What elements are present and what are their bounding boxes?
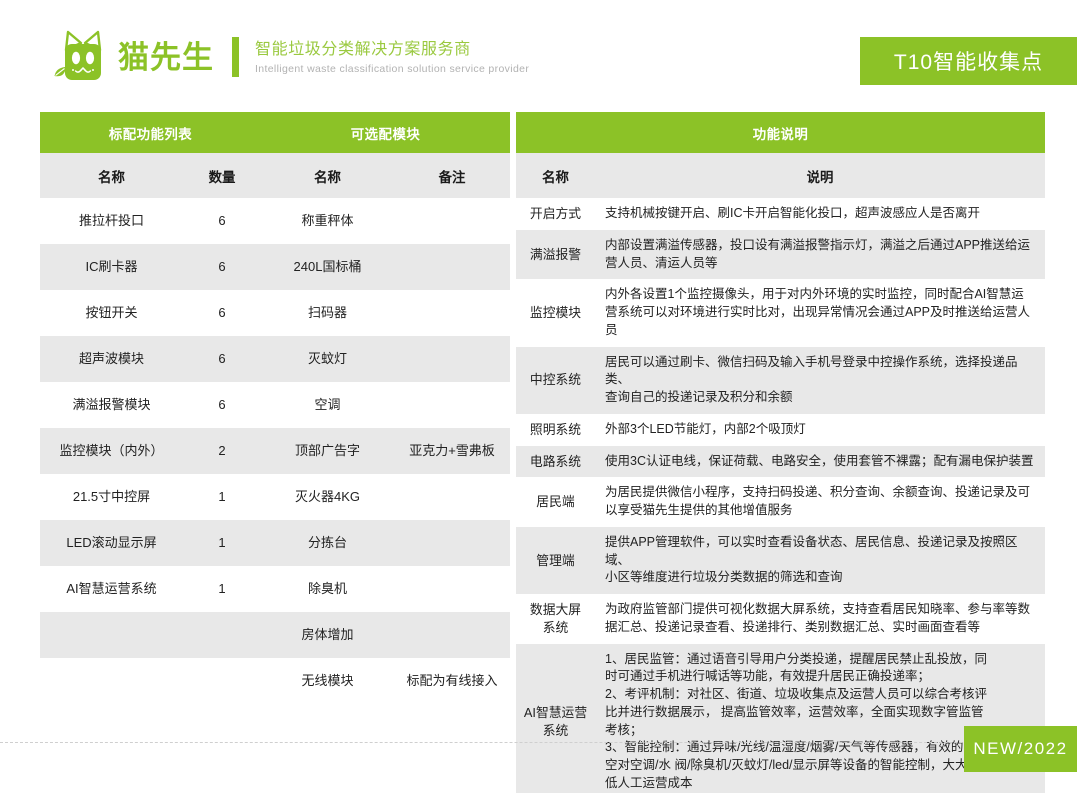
left-cell-option: 顶部广告字 (261, 428, 394, 474)
description-line: 比并进行数据展示， 提高监管效率，运营效率，全面实现数字管监管 (605, 704, 1039, 722)
left-cell-note (394, 244, 510, 290)
left-cell-note (394, 382, 510, 428)
description-line: 查询自己的投递记录及积分和余额 (605, 389, 1039, 407)
table-row: 推拉杆投口6称重秤体 (40, 198, 510, 244)
description-line: 支持机械按键开启、刷IC卡开启智能化投口，超声波感应人是否离开 (605, 205, 1039, 223)
table-row: 电路系统使用3C认证电线，保证荷载、电路安全，使用套管不裸露；配有漏电保护装置 (516, 446, 1045, 478)
slide-page: 猫先生 智能垃圾分类解决方案服务商 Intelligent waste clas… (0, 0, 1077, 793)
description-line: 外部3个LED节能灯，内部2个吸顶灯 (605, 421, 1039, 439)
left-cell-name: 按钮开关 (40, 290, 183, 336)
brand-name: 猫先生 (118, 42, 214, 73)
left-cell-qty: 6 (183, 290, 261, 336)
right-cell-description: 提供APP管理软件，可以实时查看设备状态、居民信息、投递记录及按照区域、小区等维… (595, 527, 1045, 594)
table-row: LED滚动显示屏1分拣台 (40, 520, 510, 566)
table-row: 满溢报警模块6空调 (40, 382, 510, 428)
right-cell-description: 为政府监管部门提供可视化数据大屏系统，支持查看居民知晓率、参与率等数据汇总、投递… (595, 594, 1045, 644)
description-line: 据汇总、投递记录查看、投递排行、类别数据汇总、实时画面查看等 (605, 619, 1039, 637)
table-row: 按钮开关6扫码器 (40, 290, 510, 336)
slogan-wrap: 智能垃圾分类解决方案服务商 Intelligent waste classifi… (255, 40, 529, 75)
left-cell-option: 灭火器4KG (261, 474, 394, 520)
table-row: 管理端提供APP管理软件，可以实时查看设备状态、居民信息、投递记录及按照区域、小… (516, 527, 1045, 594)
footer-dashed-rule (0, 742, 1077, 743)
standard-and-optional-table: 标配功能列表 可选配模块 名称 数量 名称 备注 推拉杆投口6称重秤体IC刷卡器… (40, 112, 510, 704)
right-cell-description: 居民可以通过刷卡、微信扫码及输入手机号登录中控操作系统，选择投递品类、查询自己的… (595, 347, 1045, 414)
left-cell-qty: 6 (183, 244, 261, 290)
right-cell-description: 内外各设置1个监控摄像头，用于对内外环境的实时监控，同时配合AI智慧运营系统可以… (595, 279, 1045, 346)
cat-face-leaf-logo-icon (52, 29, 114, 85)
left-cell-note (394, 336, 510, 382)
right-table-header-row: 名称 说明 (516, 153, 1045, 198)
description-line: 2、考评机制：对社区、街道、垃圾收集点及运营人员可以综合考核评 (605, 686, 1039, 704)
left-cell-note (394, 612, 510, 658)
left-cell-qty: 2 (183, 428, 261, 474)
table-row: 监控模块内外各设置1个监控摄像头，用于对内外环境的实时监控，同时配合AI智慧运营… (516, 279, 1045, 346)
slogan-english: Intelligent waste classification solutio… (255, 63, 529, 75)
left-cell-qty: 1 (183, 520, 261, 566)
left-cell-option: 灭蚊灯 (261, 336, 394, 382)
right-cell-name: 满溢报警 (516, 230, 595, 280)
left-cell-name (40, 658, 183, 704)
description-line: 内外各设置1个监控摄像头，用于对内外环境的实时监控，同时配合AI智慧运 (605, 286, 1039, 304)
right-cell-name: 管理端 (516, 527, 595, 594)
table-row: 房体增加 (40, 612, 510, 658)
left-cell-name: 监控模块（内外） (40, 428, 183, 474)
footer-new-badge: NEW/2022 (964, 726, 1077, 772)
right-cell-description: 外部3个LED节能灯，内部2个吸顶灯 (595, 414, 1045, 446)
left-header-qty: 数量 (183, 153, 261, 198)
table-row: 21.5寸中控屏1灭火器4KG (40, 474, 510, 520)
left-cell-qty (183, 658, 261, 704)
description-line: 营系统可以对环境进行实时比对，出现异常情况会通过APP及时推送给运营人 (605, 304, 1039, 322)
right-cell-description: 支持机械按键开启、刷IC卡开启智能化投口，超声波感应人是否离开 (595, 198, 1045, 230)
left-cell-option: 空调 (261, 382, 394, 428)
left-cell-option: 除臭机 (261, 566, 394, 612)
table-row: 满溢报警内部设置满溢传感器，投口设有满溢报警指示灯，满溢之后通过APP推送给运营… (516, 230, 1045, 280)
brand-divider (232, 37, 239, 77)
left-cell-name: 超声波模块 (40, 336, 183, 382)
left-cell-qty: 1 (183, 474, 261, 520)
description-line: 居民可以通过刷卡、微信扫码及输入手机号登录中控操作系统，选择投递品类、 (605, 354, 1039, 390)
right-table-title-row: 功能说明 (516, 112, 1045, 153)
left-cell-note (394, 198, 510, 244)
left-cell-option: 扫码器 (261, 290, 394, 336)
right-cell-name: 开启方式 (516, 198, 595, 230)
left-header-option-name: 名称 (261, 153, 394, 198)
right-table-title: 功能说明 (516, 112, 1045, 153)
right-cell-name: AI智慧运营系统 (516, 644, 595, 793)
right-cell-name: 监控模块 (516, 279, 595, 346)
right-cell-description: 使用3C认证电线，保证荷载、电路安全，使用套管不裸露；配有漏电保护装置 (595, 446, 1045, 478)
left-cell-qty: 6 (183, 336, 261, 382)
table-row: 居民端为居民提供微信小程序，支持扫码投递、积分查询、余额查询、投递记录及可以享受… (516, 477, 1045, 527)
model-badge: T10智能收集点 (860, 37, 1077, 85)
table-row: AI智慧运营系统1除臭机 (40, 566, 510, 612)
table-row: 开启方式支持机械按键开启、刷IC卡开启智能化投口，超声波感应人是否离开 (516, 198, 1045, 230)
right-table-body: 开启方式支持机械按键开启、刷IC卡开启智能化投口，超声波感应人是否离开满溢报警内… (516, 198, 1045, 793)
left-cell-option: 称重秤体 (261, 198, 394, 244)
left-cell-qty: 6 (183, 382, 261, 428)
right-cell-name: 居民端 (516, 477, 595, 527)
slogan-chinese: 智能垃圾分类解决方案服务商 (255, 40, 529, 60)
left-table-title-optional: 可选配模块 (261, 112, 510, 153)
left-table-header-row: 名称 数量 名称 备注 (40, 153, 510, 198)
table-row: 无线模块标配为有线接入 (40, 658, 510, 704)
description-line: 员 (605, 322, 1039, 340)
left-cell-qty: 6 (183, 198, 261, 244)
left-cell-note (394, 474, 510, 520)
table-row: IC刷卡器6240L国标桶 (40, 244, 510, 290)
left-cell-option: 240L国标桶 (261, 244, 394, 290)
description-line: 为居民提供微信小程序，支持扫码投递、积分查询、余额查询、投递记录及可 (605, 484, 1039, 502)
left-cell-note (394, 520, 510, 566)
left-cell-note: 亚克力+雪弗板 (394, 428, 510, 474)
left-cell-name: 满溢报警模块 (40, 382, 183, 428)
table-row: 数据大屏系统为政府监管部门提供可视化数据大屏系统，支持查看居民知晓率、参与率等数… (516, 594, 1045, 644)
description-line: 为政府监管部门提供可视化数据大屏系统，支持查看居民知晓率、参与率等数 (605, 601, 1039, 619)
function-description-table: 功能说明 名称 说明 开启方式支持机械按键开启、刷IC卡开启智能化投口，超声波感… (516, 112, 1045, 793)
right-cell-name: 电路系统 (516, 446, 595, 478)
left-cell-option: 房体增加 (261, 612, 394, 658)
right-header-name: 名称 (516, 153, 595, 198)
left-cell-name: LED滚动显示屏 (40, 520, 183, 566)
left-cell-name: 21.5寸中控屏 (40, 474, 183, 520)
page-header: 猫先生 智能垃圾分类解决方案服务商 Intelligent waste clas… (0, 0, 1077, 108)
brand-block: 猫先生 智能垃圾分类解决方案服务商 Intelligent waste clas… (52, 28, 529, 86)
description-line: 提供APP管理软件，可以实时查看设备状态、居民信息、投递记录及按照区域、 (605, 534, 1039, 570)
left-cell-qty (183, 612, 261, 658)
right-cell-description: 为居民提供微信小程序，支持扫码投递、积分查询、余额查询、投递记录及可以享受猫先生… (595, 477, 1045, 527)
right-cell-description: 内部设置满溢传感器，投口设有满溢报警指示灯，满溢之后通过APP推送给运营人员、清… (595, 230, 1045, 280)
left-cell-name: 推拉杆投口 (40, 198, 183, 244)
left-header-note: 备注 (394, 153, 510, 198)
left-cell-note: 标配为有线接入 (394, 658, 510, 704)
table-row: 超声波模块6灭蚊灯 (40, 336, 510, 382)
left-cell-qty: 1 (183, 566, 261, 612)
left-cell-note (394, 290, 510, 336)
description-line: 低人工运营成本 (605, 775, 1039, 793)
left-cell-name (40, 612, 183, 658)
left-cell-option: 无线模块 (261, 658, 394, 704)
description-line: 1、居民监管：通过语音引导用户分类投递，提醒居民禁止乱投放，同 (605, 651, 1039, 669)
table-row: 照明系统外部3个LED节能灯，内部2个吸顶灯 (516, 414, 1045, 446)
left-cell-note (394, 566, 510, 612)
left-table-title-standard: 标配功能列表 (40, 112, 261, 153)
left-cell-name: AI智慧运营系统 (40, 566, 183, 612)
description-line: 内部设置满溢传感器，投口设有满溢报警指示灯，满溢之后通过APP推送给运 (605, 237, 1039, 255)
right-header-desc: 说明 (595, 153, 1045, 198)
description-line: 使用3C认证电线，保证荷载、电路安全，使用套管不裸露；配有漏电保护装置 (605, 453, 1039, 471)
left-cell-option: 分拣台 (261, 520, 394, 566)
right-cell-name: 中控系统 (516, 347, 595, 414)
table-row: 监控模块（内外）2顶部广告字亚克力+雪弗板 (40, 428, 510, 474)
left-table-title-row: 标配功能列表 可选配模块 (40, 112, 510, 153)
description-line: 小区等维度进行垃圾分类数据的筛选和查询 (605, 569, 1039, 587)
right-cell-name: 数据大屏系统 (516, 594, 595, 644)
right-cell-name: 照明系统 (516, 414, 595, 446)
left-header-name: 名称 (40, 153, 183, 198)
description-line: 时可通过手机进行喊话等功能，有效提升居民正确投递率； (605, 668, 1039, 686)
left-cell-name: IC刷卡器 (40, 244, 183, 290)
description-line: 营人员、清运人员等 (605, 255, 1039, 273)
description-line: 以享受猫先生提供的其他增值服务 (605, 502, 1039, 520)
left-table-body: 推拉杆投口6称重秤体IC刷卡器6240L国标桶按钮开关6扫码器超声波模块6灭蚊灯… (40, 198, 510, 704)
table-row: 中控系统居民可以通过刷卡、微信扫码及输入手机号登录中控操作系统，选择投递品类、查… (516, 347, 1045, 414)
